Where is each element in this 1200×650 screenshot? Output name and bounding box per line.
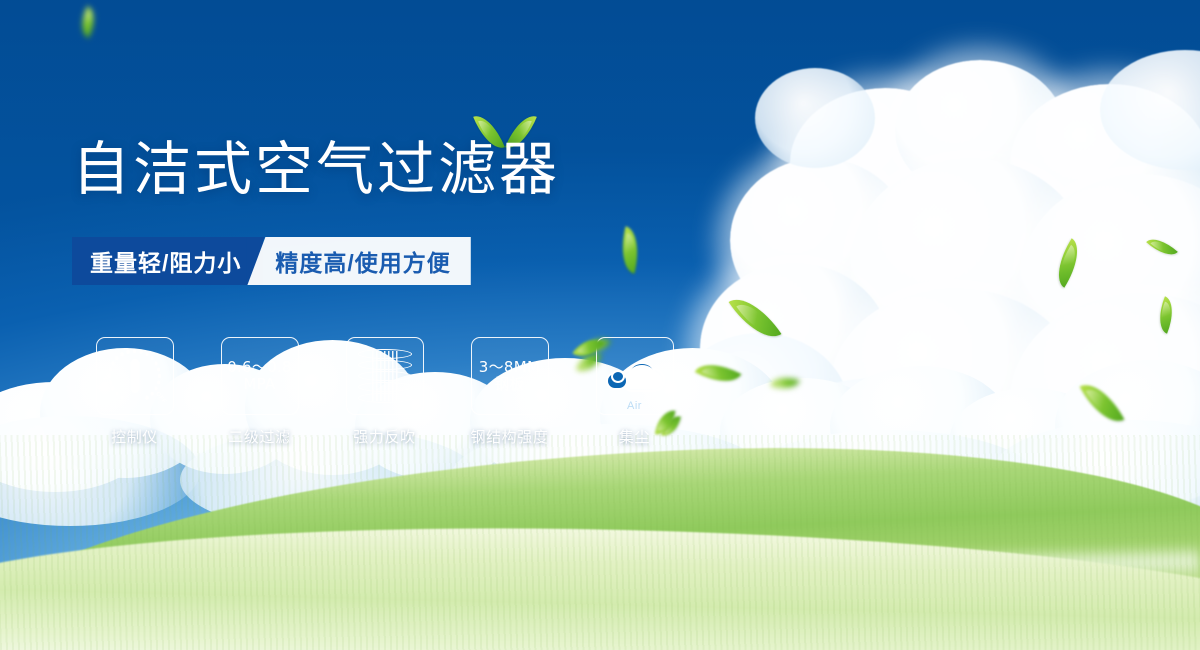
subtitle-right-segment: 精度高/使用方便 [247,237,470,285]
air-cloud-icon: Air [605,356,665,396]
feature-icon-box [346,337,424,415]
grass-texture [0,435,1200,650]
air-label: Air [627,400,642,412]
subtitle-bar: 重量轻/阻力小 精度高/使用方便 [72,237,471,285]
filter-stack-icon [357,347,413,405]
feature-item[interactable]: 0.6～0.8 MPA 二级过滤 [197,337,322,447]
pressure-unit: MPA [243,376,275,393]
feature-icon-box: NO OFF [96,337,174,415]
feature-label: 强力反吹 [353,426,415,447]
steel-thickness: 3～8MM [479,359,540,376]
feature-list: NO OFF 控制仪 0.6～0.8 MPA 二级过滤 [72,337,697,447]
control-dial-icon: NO OFF [104,347,166,405]
feature-item[interactable]: 3～8MM 钢板 钢结构强度 [447,337,572,447]
product-banner: 自洁式空气过滤器 重量轻/阻力小 精度高/使用方便 [0,0,1200,650]
feature-icon-box: 0.6～0.8 MPA [221,337,299,415]
feature-item[interactable]: NO OFF 控制仪 [72,337,197,447]
pressure-value: 0.6～0.8 [227,359,292,376]
feature-label: 二级过滤 [228,426,290,447]
subtitle-left-segment: 重量轻/阻力小 [72,237,263,285]
feature-label: 钢结构强度 [470,426,548,447]
dial-pointer [130,359,139,393]
grass-field [0,435,1200,650]
feature-item[interactable]: 强力反吹 [322,337,447,447]
leaf-icon [655,408,675,436]
feature-icon-box: 3～8MM 钢板 [471,337,549,415]
steel-material: 钢板 [494,376,525,393]
feature-label: 控制仪 [111,426,158,447]
feature-icon-box: Air [596,337,674,415]
page-title: 自洁式空气过滤器 [72,140,560,198]
feature-label: 集尘 [619,426,650,447]
dial-off-label: OFF [154,391,167,405]
